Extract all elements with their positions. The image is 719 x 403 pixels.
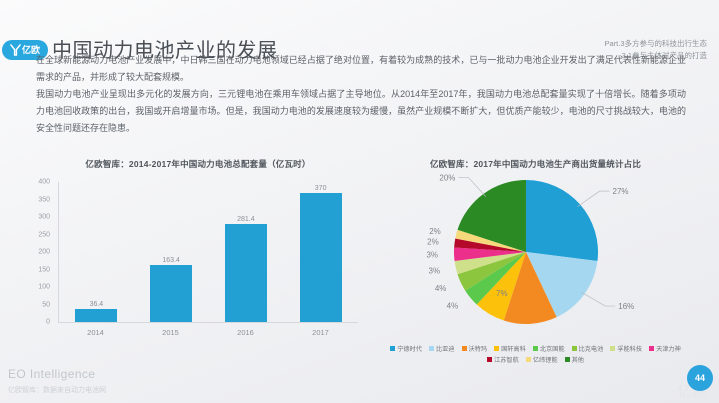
pie-chart-panel: 亿欧智库：2017年中国动力电池生产商出货量统计占比 27%16%12%7%4%… xyxy=(378,152,693,377)
bar-column[interactable]: 281.4 xyxy=(209,182,284,322)
bar-chart-x-tick: 2016 xyxy=(208,328,283,337)
pie-slice-label: 4% xyxy=(447,302,459,311)
legend-swatch-icon xyxy=(649,346,654,351)
legend-label: 北京国能 xyxy=(540,344,565,353)
bar-chart-title: 亿欧智库：2014-2017年中国动力电池总配套量（亿瓦时） xyxy=(28,158,368,170)
slide-header: 亿欧 中国动力电池产业的发展 Part.3多方参与的科技出行生态 3.1参与主体… xyxy=(0,18,719,52)
legend-label: 亿纬锂能 xyxy=(533,355,558,364)
charts-region: 亿欧智库：2014-2017年中国动力电池总配套量（亿瓦时） 400350300… xyxy=(28,152,693,377)
legend-swatch-icon xyxy=(494,346,499,351)
body-paragraph-1: 在全球新能源动力电池产业发展中，中日韩三国在动力电池领域已经占据了绝对位置，有着… xyxy=(36,52,686,86)
bar[interactable] xyxy=(225,224,267,322)
legend-swatch-icon xyxy=(572,346,577,351)
legend-swatch-icon xyxy=(533,346,538,351)
pie-leader-line xyxy=(577,191,609,207)
bar[interactable] xyxy=(75,309,117,322)
bar-chart-x-tick: 2014 xyxy=(58,328,133,337)
legend-swatch-icon xyxy=(610,346,615,351)
legend-swatch-icon xyxy=(462,346,467,351)
legend-item[interactable]: 比亚迪 xyxy=(429,344,455,353)
bar-chart-y-tick: 150 xyxy=(38,266,50,273)
pie-slice[interactable] xyxy=(526,180,598,261)
legend-label: 天津力神 xyxy=(656,344,681,353)
bar-value-label: 36.4 xyxy=(90,301,104,308)
pie-slice-label: 27% xyxy=(613,187,629,196)
bar-value-label: 163.4 xyxy=(162,257,180,264)
pie-chart-svg: 27%16%12%7%4%4%3%3%2%2%20% xyxy=(378,174,693,334)
pie-chart: 27%16%12%7%4%4%3%3%2%2%20% xyxy=(378,174,693,334)
legend-item[interactable]: 天津力神 xyxy=(649,344,681,353)
bar-chart: 400350300250200150100500 36.4163.4281.43… xyxy=(28,178,368,363)
legend-label: 比亚迪 xyxy=(436,344,455,353)
pie-slice-label: 3% xyxy=(429,266,441,275)
slide-root: 亿欧 中国动力电池产业的发展 Part.3多方参与的科技出行生态 3.1参与主体… xyxy=(0,0,719,403)
bar-chart-y-tick: 200 xyxy=(38,249,50,256)
bar-chart-y-tick: 100 xyxy=(38,284,50,291)
legend-label: 比克电池 xyxy=(579,344,604,353)
bar-chart-x-tick: 2015 xyxy=(133,328,208,337)
pie-slice-label: 16% xyxy=(618,302,634,311)
legend-item[interactable]: 宁德时代 xyxy=(390,344,422,353)
legend-item[interactable]: 孚能科技 xyxy=(610,344,642,353)
bar-column[interactable]: 370 xyxy=(283,182,358,322)
legend-item[interactable]: 其他 xyxy=(565,355,584,364)
bar-chart-x-axis: 2014201520162017 xyxy=(58,328,358,337)
legend-label: 宁德时代 xyxy=(397,344,422,353)
legend-swatch-icon xyxy=(565,357,570,362)
legend-label: 江苏智航 xyxy=(494,355,519,364)
bar-series: 36.4163.4281.4370 xyxy=(59,182,358,322)
bar[interactable] xyxy=(300,193,342,323)
pie-slice-label: 4% xyxy=(435,284,447,293)
bar-column[interactable]: 36.4 xyxy=(59,182,134,322)
legend-swatch-icon xyxy=(429,346,434,351)
bar-chart-x-tick: 2017 xyxy=(283,328,358,337)
body-paragraph-2: 我国动力电池产业呈现出多元化的发展方向，三元锂电池在乘用车领域占据了主导地位。从… xyxy=(36,86,686,137)
legend-swatch-icon xyxy=(526,357,531,362)
bar[interactable] xyxy=(150,265,192,322)
bar-chart-y-axis: 400350300250200150100500 xyxy=(28,182,54,322)
legend-label: 孚能科技 xyxy=(617,344,642,353)
pie-leader-line xyxy=(581,292,615,306)
part-label-line1: Part.3多方参与的科技出行生态 xyxy=(604,38,707,50)
bar-column[interactable]: 163.4 xyxy=(134,182,209,322)
pie-slice-label: 20% xyxy=(439,174,455,183)
pie-leader-line xyxy=(458,178,485,197)
pie-slice-label: 2% xyxy=(427,237,439,246)
eo-logo-icon xyxy=(10,44,21,56)
bar-chart-plot-area: 36.4163.4281.4370 xyxy=(58,182,358,323)
legend-item[interactable]: 比克电池 xyxy=(572,344,604,353)
legend-label: 沃特玛 xyxy=(469,344,488,353)
page-number-badge: 44 xyxy=(687,365,713,391)
pie-slice-label: 3% xyxy=(426,251,438,260)
bar-chart-y-tick: 250 xyxy=(38,231,50,238)
legend-swatch-icon xyxy=(390,346,395,351)
bar-value-label: 370 xyxy=(315,185,327,192)
bar-chart-y-tick: 50 xyxy=(42,301,50,308)
legend-item[interactable]: 北京国能 xyxy=(533,344,565,353)
footer-source: 亿欧智库：数据来自动力电池网 xyxy=(8,385,106,395)
footer-brand: EO Intelligence xyxy=(8,367,95,381)
legend-item[interactable]: 江苏智航 xyxy=(487,355,519,364)
legend-label: 其他 xyxy=(572,355,584,364)
pie-chart-title: 亿欧智库：2017年中国动力电池生产商出货量统计占比 xyxy=(378,158,693,170)
legend-item[interactable]: 国轩高科 xyxy=(494,344,526,353)
bar-chart-y-tick: 300 xyxy=(38,214,50,221)
pie-slice-label: 7% xyxy=(496,289,508,298)
bar-value-label: 281.4 xyxy=(237,216,255,223)
bar-chart-panel: 亿欧智库：2014-2017年中国动力电池总配套量（亿瓦时） 400350300… xyxy=(28,152,368,377)
bar-chart-y-tick: 400 xyxy=(38,179,50,186)
legend-swatch-icon xyxy=(487,357,492,362)
pie-slice-label: 2% xyxy=(429,227,441,236)
legend-item[interactable]: 亿纬锂能 xyxy=(526,355,558,364)
legend-label: 国轩高科 xyxy=(501,344,526,353)
pie-chart-legend: 宁德时代比亚迪沃特玛国轩高科北京国能比克电池孚能科技天津力神江苏智航亿纬锂能其他 xyxy=(378,344,693,364)
legend-item[interactable]: 沃特玛 xyxy=(462,344,488,353)
body-text: 在全球新能源动力电池产业发展中，中日韩三国在动力电池领域已经占据了绝对位置，有着… xyxy=(36,52,686,137)
bar-chart-y-tick: 0 xyxy=(46,319,50,326)
bar-chart-y-tick: 350 xyxy=(38,196,50,203)
